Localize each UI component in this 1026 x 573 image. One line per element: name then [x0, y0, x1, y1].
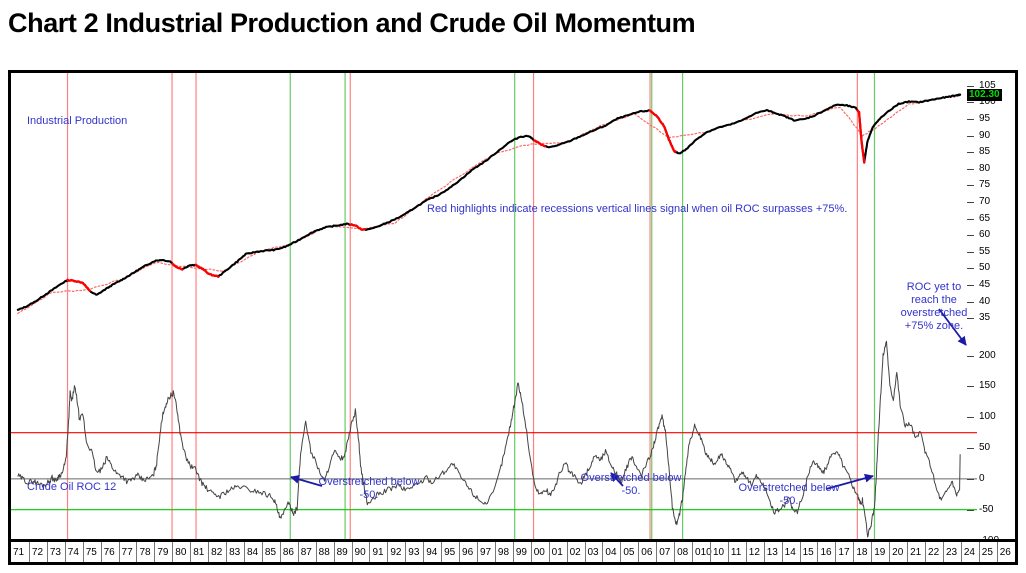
chart-canvas [11, 73, 1015, 562]
axis-tick-mark [967, 268, 974, 269]
recession-legend-note: Red highlights indicate recessions verti… [427, 203, 847, 215]
axis-tick-mark [967, 235, 974, 236]
recession-highlight-2 [196, 265, 218, 277]
upper-axis-tick-65: 65 [979, 213, 990, 224]
axis-tick-mark [967, 479, 974, 480]
x-axis-year-14[interactable]: 14 [782, 542, 800, 562]
upper-axis-tick-70: 70 [979, 196, 990, 207]
lower-axis-tick-200: 200 [979, 350, 996, 361]
x-axis-year-98[interactable]: 98 [495, 542, 513, 562]
recession-highlight-0 [68, 280, 90, 291]
axis-tick-mark [967, 219, 974, 220]
upper-axis-tick-75: 75 [979, 179, 990, 190]
upper-axis-tick-85: 85 [979, 146, 990, 157]
x-axis-year-12[interactable]: 12 [746, 542, 764, 562]
axis-tick-mark [967, 136, 974, 137]
x-axis-year-03[interactable]: 03 [585, 542, 603, 562]
overstretched-note-3: Overstretched below -50. [736, 482, 842, 508]
current-value-tag: 102.30 [967, 89, 1002, 101]
axis-tick-mark [967, 86, 974, 87]
x-axis-year-22[interactable]: 22 [925, 542, 943, 562]
recession-highlight-3 [350, 224, 364, 229]
lower-axis-tick-0: 0 [979, 473, 985, 484]
x-axis-year-71[interactable]: 71 [11, 542, 29, 562]
industrial-production-label: Industrial Production [27, 115, 127, 127]
x-axis-year-26[interactable]: 26 [997, 542, 1015, 562]
x-axis-year-80[interactable]: 80 [172, 542, 190, 562]
overstretched-note-2: Overstretched below -50. [578, 472, 684, 498]
x-axis-year-04[interactable]: 04 [602, 542, 620, 562]
x-axis-year-85[interactable]: 85 [262, 542, 280, 562]
x-axis-year-83[interactable]: 83 [226, 542, 244, 562]
roc-not-reached-note: ROC yet to reach the overstretched +75% … [892, 281, 976, 333]
axis-tick-mark [967, 356, 974, 357]
x-axis-year-91[interactable]: 91 [369, 542, 387, 562]
x-axis-year-96[interactable]: 96 [459, 542, 477, 562]
x-axis-year-72[interactable]: 72 [29, 542, 47, 562]
plot-area[interactable] [11, 73, 1015, 562]
x-axis-year-75[interactable]: 75 [83, 542, 101, 562]
upper-axis-tick-40: 40 [979, 296, 990, 307]
axis-tick-mark [967, 102, 974, 103]
upper-axis-tick-45: 45 [979, 279, 990, 290]
axis-tick-mark [967, 202, 974, 203]
x-axis-year-08[interactable]: 08 [674, 542, 692, 562]
axis-tick-mark [967, 169, 974, 170]
axis-tick-mark [967, 252, 974, 253]
axis-tick-mark [967, 152, 974, 153]
overstretched-note-1: Overstretched below -50. [316, 476, 422, 502]
x-axis-year-90[interactable]: 90 [352, 542, 370, 562]
x-axis-year-05[interactable]: 05 [620, 542, 638, 562]
x-axis-year-010[interactable]: 010 [692, 542, 710, 562]
x-axis-year-06[interactable]: 06 [638, 542, 656, 562]
axis-tick-mark [967, 448, 974, 449]
x-axis-year-92[interactable]: 92 [387, 542, 405, 562]
x-axis-year-74[interactable]: 74 [65, 542, 83, 562]
lower-axis-tick-100: 100 [979, 411, 996, 422]
x-axis-year-00[interactable]: 00 [531, 542, 549, 562]
x-axis-year-25[interactable]: 25 [979, 542, 997, 562]
recession-highlight-5 [650, 111, 675, 152]
upper-axis-tick-95: 95 [979, 113, 990, 124]
x-axis-year-21[interactable]: 21 [907, 542, 925, 562]
x-axis-year-88[interactable]: 88 [316, 542, 334, 562]
x-axis-year-11[interactable]: 11 [728, 542, 746, 562]
x-axis-year-73[interactable]: 73 [47, 542, 65, 562]
axis-tick-mark [967, 417, 974, 418]
x-axis-year-23[interactable]: 23 [943, 542, 961, 562]
x-axis-year-82[interactable]: 82 [208, 542, 226, 562]
x-axis-year-81[interactable]: 81 [190, 542, 208, 562]
x-axis-year-89[interactable]: 89 [334, 542, 352, 562]
x-axis-year-17[interactable]: 17 [835, 542, 853, 562]
x-axis-year-86[interactable]: 86 [280, 542, 298, 562]
x-axis-year-84[interactable]: 84 [244, 542, 262, 562]
x-axis-year-19[interactable]: 19 [871, 542, 889, 562]
x-axis-year-77[interactable]: 77 [119, 542, 137, 562]
upper-axis-tick-80: 80 [979, 163, 990, 174]
x-axis-year-band[interactable]: 7172737475767778798081828384858687888990… [8, 539, 1018, 565]
x-axis-year-97[interactable]: 97 [477, 542, 495, 562]
x-axis-year-76[interactable]: 76 [101, 542, 119, 562]
upper-axis-tick-90: 90 [979, 130, 990, 141]
lower-axis-tick--50: -50 [979, 504, 993, 515]
upper-axis-tick-55: 55 [979, 246, 990, 257]
x-axis-year-20[interactable]: 20 [889, 542, 907, 562]
x-axis-year-87[interactable]: 87 [298, 542, 316, 562]
x-axis-year-02[interactable]: 02 [567, 542, 585, 562]
chart-frame: 1051009590858075706560555045403520015010… [8, 70, 1018, 565]
x-axis-year-15[interactable]: 15 [800, 542, 818, 562]
crude-oil-roc-label: Crude Oil ROC 12 [27, 481, 116, 493]
upper-axis-tick-60: 60 [979, 229, 990, 240]
x-axis-year-16[interactable]: 16 [817, 542, 835, 562]
x-axis-year-07[interactable]: 07 [656, 542, 674, 562]
recession-highlight-6 [858, 110, 865, 162]
x-axis-year-99[interactable]: 99 [513, 542, 531, 562]
page-title: Chart 2 Industrial Production and Crude … [8, 8, 695, 39]
x-axis-year-78[interactable]: 78 [136, 542, 154, 562]
x-axis-year-93[interactable]: 93 [405, 542, 423, 562]
x-axis-year-79[interactable]: 79 [154, 542, 172, 562]
axis-tick-mark [967, 185, 974, 186]
lower-axis-tick-150: 150 [979, 380, 996, 391]
x-axis-year-18[interactable]: 18 [853, 542, 871, 562]
axis-tick-mark [967, 119, 974, 120]
axis-tick-mark [967, 510, 974, 511]
upper-axis-tick-50: 50 [979, 262, 990, 273]
x-axis-year-13[interactable]: 13 [764, 542, 782, 562]
axis-tick-mark [967, 386, 974, 387]
x-axis-year-24[interactable]: 24 [961, 542, 979, 562]
x-axis-year-95[interactable]: 95 [441, 542, 459, 562]
x-axis-year-94[interactable]: 94 [423, 542, 441, 562]
x-axis-year-01[interactable]: 01 [549, 542, 567, 562]
upper-axis-tick-35: 35 [979, 312, 990, 323]
x-axis-year-10[interactable]: 10 [710, 542, 728, 562]
lower-axis-tick-50: 50 [979, 442, 990, 453]
